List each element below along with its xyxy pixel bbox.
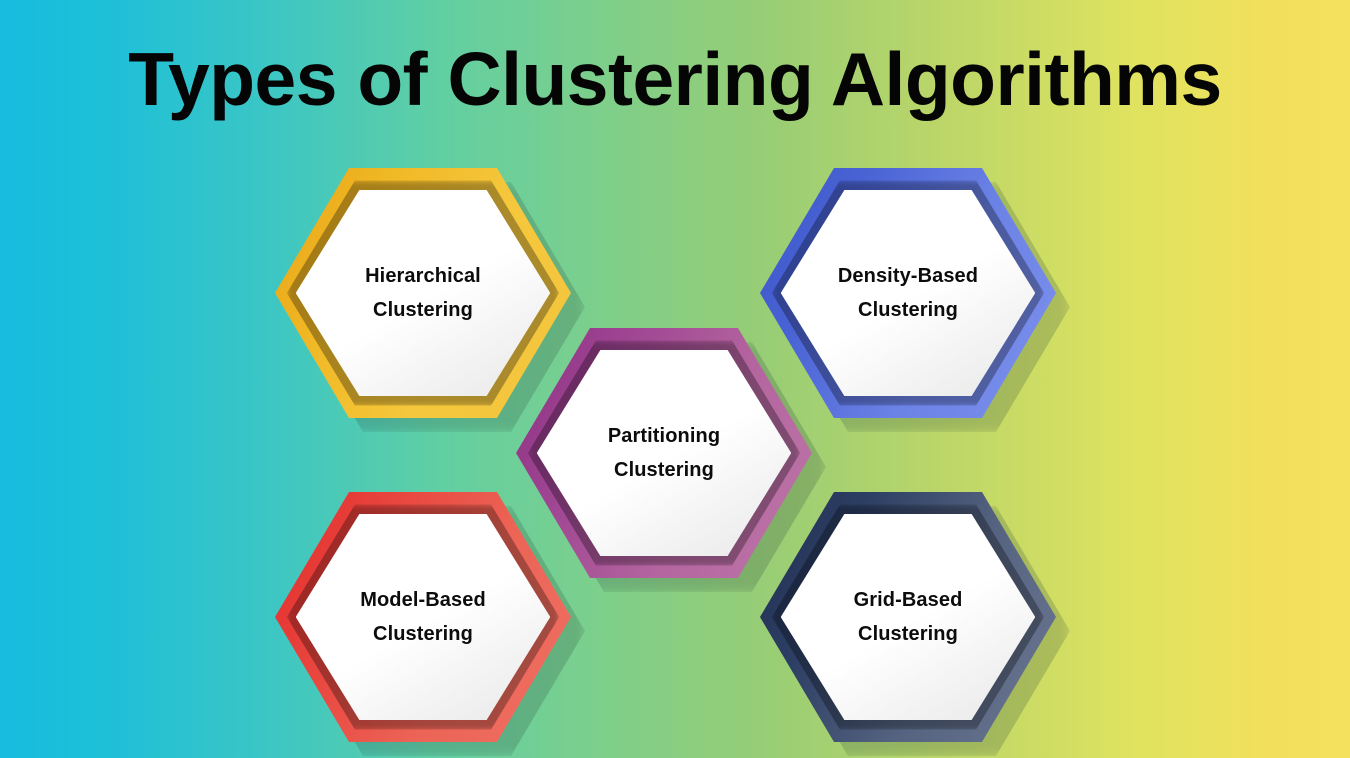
page-title: Types of Clustering Algorithms: [0, 42, 1350, 117]
hexagon-label-line1: Density-Based: [838, 265, 978, 287]
hexagon-label-line2: Clustering: [858, 299, 958, 321]
hexagon-label-line2: Clustering: [614, 459, 714, 481]
hexagon-label-line2: Clustering: [373, 299, 473, 321]
hexagon-grid-based[interactable]: Grid-Based Clustering: [760, 492, 1056, 742]
hexagon-label: Partitioning Clustering: [537, 419, 792, 487]
hexagon-label: Hierarchical Clustering: [296, 259, 551, 327]
hexagon-label-line1: Model-Based: [360, 589, 486, 611]
hexagon-label: Grid-Based Clustering: [781, 583, 1036, 651]
hexagon-label-line2: Clustering: [373, 623, 473, 645]
hexagon-label-line1: Hierarchical: [365, 265, 481, 287]
hexagon-label: Model-Based Clustering: [296, 583, 551, 651]
infographic-canvas: Types of Clustering Algorithms Hierarchi…: [0, 0, 1350, 758]
hexagon-label-line1: Partitioning: [608, 425, 720, 447]
hexagon-label-line2: Clustering: [858, 623, 958, 645]
hexagon-label: Density-Based Clustering: [781, 259, 1036, 327]
hexagon-model-based[interactable]: Model-Based Clustering: [275, 492, 571, 742]
hexagon-label-line1: Grid-Based: [854, 589, 963, 611]
